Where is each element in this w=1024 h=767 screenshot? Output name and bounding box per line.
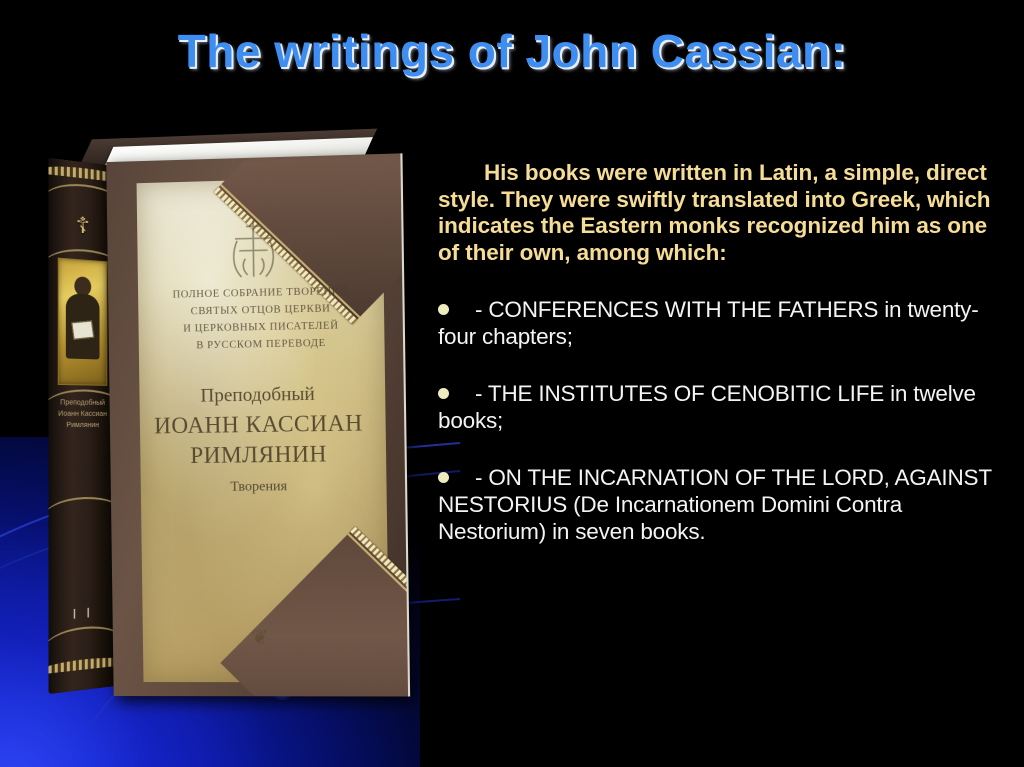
list-item-label: - THE INSTITUTES OF CENOBITIC LIFE in tw… [438, 381, 976, 433]
bullet-marker-icon [438, 304, 449, 315]
cover-author-block: Преподобный ИОАНН КАССИАН РИМЛЯНИН Творе… [119, 379, 399, 506]
writings-list: - CONFERENCES WITH THE FATHERS in twenty… [438, 296, 1008, 545]
cover-flourish-ornament: ❦ [251, 625, 266, 650]
book-front-cover: ПОЛНОЕ СОБРАНИЕ ТВОРЕНИЙ СВЯТЫХ ОТЦОВ ЦЕ… [106, 153, 410, 696]
cover-author-name-line-1: ИОАНН КАССИАН [120, 408, 398, 442]
page-title: The writings of John Cassian: [0, 24, 1024, 78]
spine-cross-icon: ☦ [76, 214, 90, 238]
orthodox-cross-icon [216, 213, 290, 287]
cover-heading: ПОЛНОЕ СОБРАНИЕ ТВОРЕНИЙ СВЯТЫХ ОТЦОВ ЦЕ… [132, 282, 391, 356]
cover-subtitle: Творения [121, 469, 400, 506]
bullet-marker-icon [438, 472, 449, 483]
spine-title-text: Преподобный Иоанн Кассиан Римлянин [55, 397, 111, 479]
content-column: His books were written in Latin, a simpl… [438, 160, 1008, 575]
list-item: - ON THE INCARNATION OF THE LORD, AGAINS… [438, 464, 1008, 545]
book-image: ☦ Преподобный Иоанн Кассиан Римлянин I I [48, 138, 448, 698]
intro-paragraph: His books were written in Latin, a simpl… [438, 160, 1008, 266]
bullet-marker-icon [438, 388, 449, 399]
list-item: - CONFERENCES WITH THE FATHERS in twenty… [438, 296, 1008, 350]
list-item-label: - ON THE INCARNATION OF THE LORD, AGAINS… [438, 465, 991, 544]
book-spine: ☦ Преподобный Иоанн Кассиан Римлянин I I [49, 158, 116, 694]
slide: The writings of John Cassian: ☦ Преподоб… [0, 0, 1024, 767]
cover-author-prefix: Преподобный [119, 379, 397, 412]
list-item-label: - CONFERENCES WITH THE FATHERS in twenty… [438, 297, 979, 349]
list-item: - THE INSTITUTES OF CENOBITIC LIFE in tw… [438, 380, 1008, 434]
spine-volume-number: I I [73, 604, 93, 622]
spine-saint-icon [58, 258, 108, 386]
cover-author-name-line-2: РИМЛЯНИН [120, 438, 398, 472]
